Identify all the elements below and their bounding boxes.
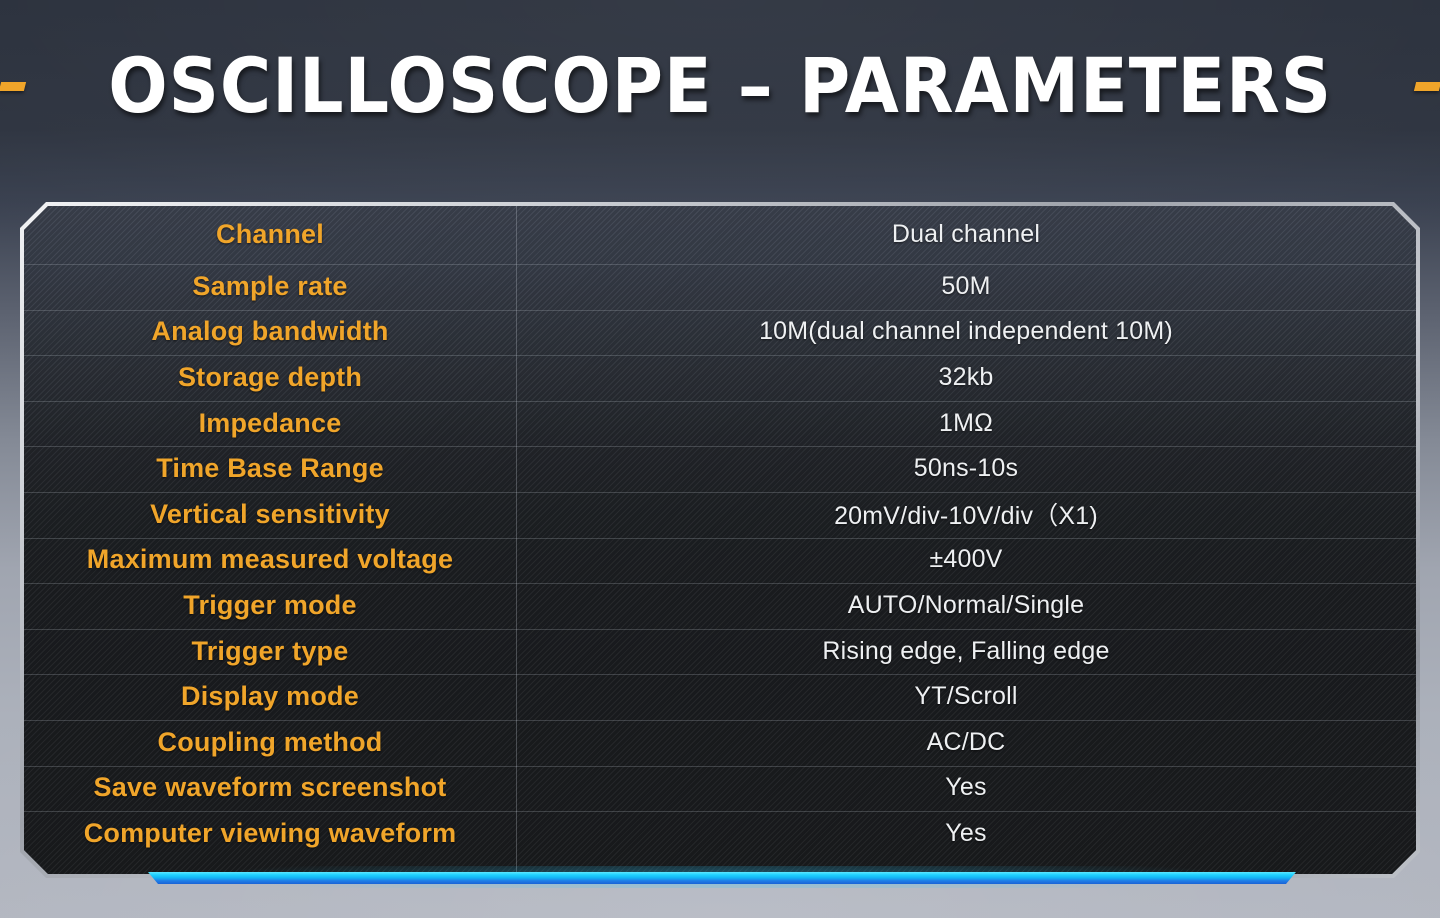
table-row: ChannelDual channel [24, 206, 1416, 265]
table-row: Impedance1MΩ [24, 402, 1416, 448]
parameter-value: Dual channel [516, 206, 1416, 264]
parameter-label: Sample rate [24, 265, 516, 310]
parameter-label: Impedance [24, 402, 516, 447]
parameter-label: Trigger type [24, 630, 516, 675]
parameter-label: Vertical sensitivity [24, 493, 516, 538]
table-row: Display modeYT/Scroll [24, 675, 1416, 721]
parameter-value: AC/DC [516, 721, 1416, 766]
accent-bar [148, 872, 1296, 884]
page-title-text: OSCILLOSCOPE – PARAMETERS [108, 48, 1332, 124]
parameter-label: Display mode [24, 675, 516, 720]
parameter-label: Save waveform screenshot [24, 767, 516, 812]
table-row: Trigger typeRising edge, Falling edge [24, 630, 1416, 676]
table-row: Analog bandwidth10M(dual channel indepen… [24, 311, 1416, 357]
table-row: Coupling methodAC/DC [24, 721, 1416, 767]
table-row: Maximum measured voltage±400V [24, 539, 1416, 585]
slide-root: OSCILLOSCOPE – PARAMETERS ChannelDual ch… [0, 0, 1440, 918]
parameter-label: Trigger mode [24, 584, 516, 629]
parameter-value: Yes [516, 767, 1416, 812]
table-row: Time Base Range50ns-10s [24, 447, 1416, 493]
page-title: OSCILLOSCOPE – PARAMETERS [0, 48, 1440, 124]
title-dash-left-icon [0, 82, 26, 91]
parameter-value: ±400V [516, 539, 1416, 584]
parameter-label: Channel [24, 206, 516, 264]
parameter-label: Storage depth [24, 356, 516, 401]
parameter-value: 32kb [516, 356, 1416, 401]
parameter-value: 50ns-10s [516, 447, 1416, 492]
parameter-label: Computer viewing waveform [24, 812, 516, 858]
table-row: Sample rate50M [24, 265, 1416, 311]
parameter-label: Time Base Range [24, 447, 516, 492]
parameter-value: 50M [516, 265, 1416, 310]
table-row: Trigger modeAUTO/Normal/Single [24, 584, 1416, 630]
parameter-value: 1MΩ [516, 402, 1416, 447]
parameter-value: Yes [516, 812, 1416, 858]
panel-inner: ChannelDual channelSample rate50MAnalog … [24, 206, 1416, 874]
parameter-label: Analog bandwidth [24, 311, 516, 356]
title-dash-right-icon [1414, 82, 1440, 91]
parameter-value: AUTO/Normal/Single [516, 584, 1416, 629]
parameter-label: Maximum measured voltage [24, 539, 516, 584]
parameter-value: 10M(dual channel independent 10M) [516, 311, 1416, 356]
parameter-label: Coupling method [24, 721, 516, 766]
parameters-panel: ChannelDual channelSample rate50MAnalog … [20, 202, 1420, 878]
parameters-table: ChannelDual channelSample rate50MAnalog … [24, 206, 1416, 874]
table-row: Vertical sensitivity20mV/div-10V/div（X1) [24, 493, 1416, 539]
table-row: Storage depth32kb [24, 356, 1416, 402]
parameter-value: YT/Scroll [516, 675, 1416, 720]
parameter-value: 20mV/div-10V/div（X1) [516, 493, 1416, 538]
table-row: Computer viewing waveformYes [24, 812, 1416, 858]
table-row: Save waveform screenshotYes [24, 767, 1416, 813]
parameter-value: Rising edge, Falling edge [516, 630, 1416, 675]
